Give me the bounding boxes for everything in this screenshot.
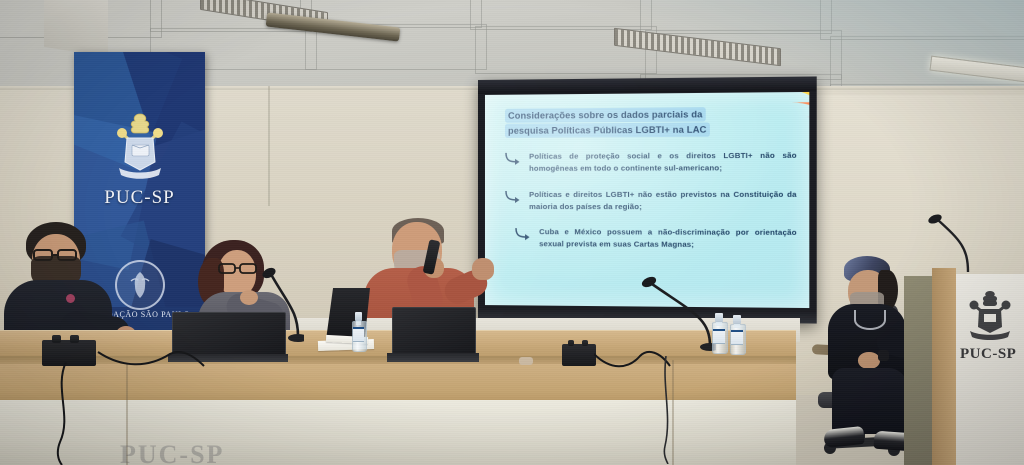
hand xyxy=(858,352,880,369)
glasses-icon xyxy=(218,262,260,275)
gooseneck-microphone xyxy=(640,268,716,352)
equipment-box-notch xyxy=(70,335,79,343)
cable xyxy=(52,362,74,465)
slide-bullet-text: Políticas e direitos LGBTI+ não estão pr… xyxy=(529,189,797,211)
gooseneck-microphone xyxy=(258,264,304,344)
slide-bullet: Políticas e direitos LGBTI+ não estão pr… xyxy=(501,188,797,213)
legs xyxy=(832,368,908,434)
shirt-badge xyxy=(66,294,75,303)
banner-title: PUC-SP xyxy=(74,187,205,209)
necklace xyxy=(854,310,886,330)
slide-bullet-text: Cuba e México possuem a não-discriminaçã… xyxy=(539,227,797,249)
papal-coat-of-arms-icon xyxy=(109,112,171,182)
slide-bullet-text: Políticas de proteção social e os direit… xyxy=(529,151,797,174)
slide-bullet: Políticas de proteção social e os direit… xyxy=(501,150,797,176)
water-bottle[interactable] xyxy=(730,315,744,355)
gooseneck-microphone-icon xyxy=(924,214,972,274)
puc-sp-crest-icon xyxy=(966,290,1014,340)
podium-side xyxy=(904,276,934,465)
shoe xyxy=(823,426,865,448)
curved-arrow-icon xyxy=(503,190,523,203)
hand xyxy=(240,290,258,305)
equipment-box-notch xyxy=(582,340,588,346)
curved-arrow-icon xyxy=(503,152,523,165)
equipment-box-notch xyxy=(568,340,574,346)
glasses-icon xyxy=(31,248,81,262)
curved-arrow-icon xyxy=(513,227,533,240)
small-object xyxy=(519,357,533,365)
slide-bullet-list: Políticas de proteção social e os direit… xyxy=(501,150,797,266)
podium: PUC-SP xyxy=(904,268,1024,465)
slide-title-line2: pesquisa Políticas Públicas LGBTI+ na LA… xyxy=(507,124,708,135)
table-logo: PUC-SP xyxy=(120,440,290,465)
laptop[interactable] xyxy=(392,307,474,363)
water-bottle[interactable] xyxy=(352,312,365,352)
equipment-box-notch xyxy=(52,335,61,343)
slide-bullet: Cuba e México possuem a não-discriminaçã… xyxy=(501,226,797,252)
wristwatch xyxy=(878,350,889,361)
hand-gesture xyxy=(472,258,494,280)
podium-wood-edge xyxy=(932,268,956,465)
slide-title: Considerações sobre os dados parciais da… xyxy=(507,107,771,139)
cable xyxy=(660,356,674,464)
equipment-box xyxy=(562,344,596,366)
podium-label: PUC-SP xyxy=(960,346,1016,363)
cable xyxy=(96,348,206,372)
conference-room-photo: PUC-SP FUNDAÇÃO SÃO PAULO xyxy=(0,0,1024,465)
water-bottle[interactable] xyxy=(712,313,726,354)
slide-title-line1: Considerações sobre os dados parciais da xyxy=(507,109,704,121)
